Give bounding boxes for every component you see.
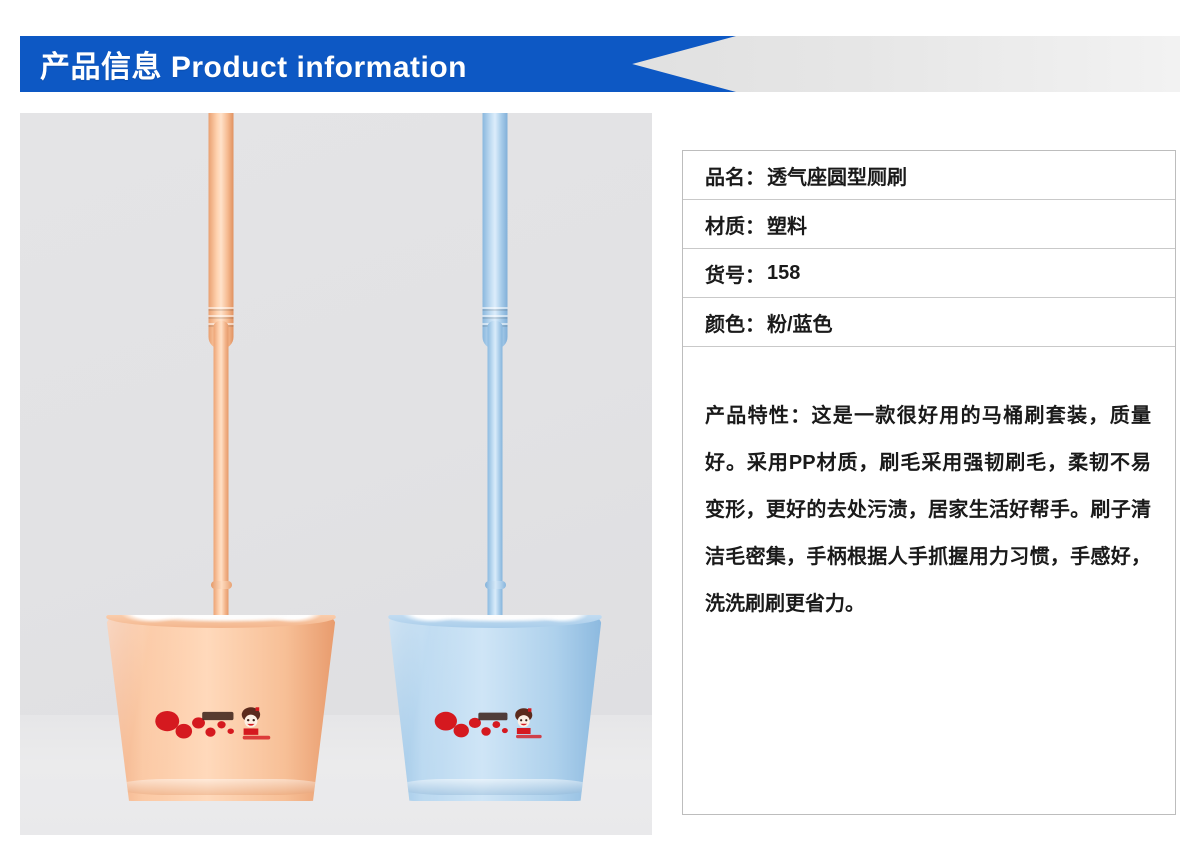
product-information-page: 产品信息 Product information [0,0,1200,861]
shaft-ring [485,581,506,589]
peach-shaft [214,321,229,651]
page-title: 产品信息 Product information [40,36,467,92]
brand-logo-decal [427,699,564,745]
blue-grip [483,113,508,349]
peach-base-holder [106,615,336,801]
spec-value: 透气座圆型厕刷 [767,161,907,190]
base-bottom-rim [397,779,594,795]
section-header-banner: 产品信息 Product information [0,36,1200,92]
product-photo [20,113,652,835]
spec-label: 品名： [705,161,765,190]
brand-logo-decal [147,699,294,745]
spec-label: 材质： [705,210,765,239]
peach-grip [209,113,234,349]
spec-table: 品名： 透气座圆型厕刷 材质： 塑料 货号： 158 颜色： 粉/蓝色 产品特性… [682,150,1176,815]
blue-base-holder [388,615,602,801]
spec-row-description: 产品特性：这是一款很好用的马桶刷套装，质量好。采用PP材质，刷毛采用强韧刷毛，柔… [683,347,1175,628]
spec-row-material: 材质： 塑料 [683,200,1175,249]
spec-label: 货号： [705,259,765,288]
blue-shaft [488,321,503,651]
base-bottom-rim [115,779,327,795]
shaft-ring [211,581,232,589]
product-description: 产品特性：这是一款很好用的马桶刷套装，质量好。采用PP材质，刷毛采用强韧刷毛，柔… [705,393,1151,628]
spec-row-color: 颜色： 粉/蓝色 [683,298,1175,347]
spec-label: 颜色： [705,308,765,337]
spec-value: 粉/蓝色 [767,308,833,337]
spec-value: 塑料 [767,210,807,239]
spec-row-product-name: 品名： 透气座圆型厕刷 [683,151,1175,200]
spec-value: 158 [767,262,800,285]
spec-row-item-number: 货号： 158 [683,249,1175,298]
